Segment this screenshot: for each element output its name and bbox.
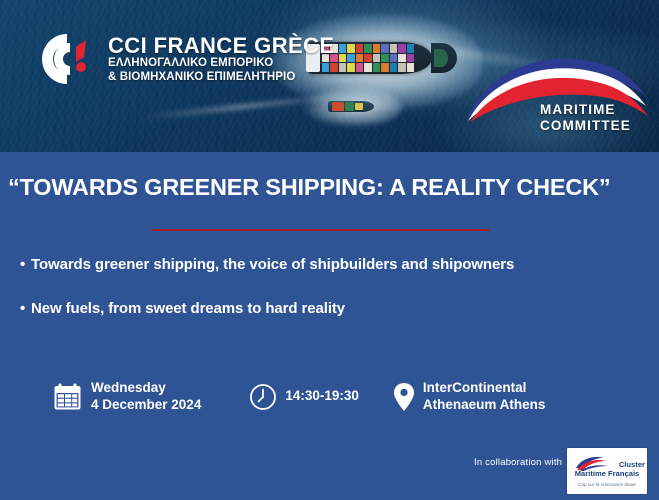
cargo-container [390, 63, 397, 72]
partner-name-line1: Cluster [619, 460, 645, 469]
cci-logo-mark [36, 30, 98, 88]
cargo-container [373, 63, 380, 72]
maritime-committee-line1: MARITIME [540, 102, 631, 118]
event-date-text: Wednesday 4 December 2024 [91, 380, 201, 414]
cargo-container [356, 63, 363, 72]
cargo-container [339, 63, 346, 72]
cargo-container [381, 44, 388, 53]
poster-body: “TOWARDS GREENER SHIPPING: A REALITY CHE… [0, 152, 659, 500]
event-time: 14:30-19:30 [249, 383, 359, 411]
cargo-container [390, 54, 397, 63]
cci-logo-text: CCI FRANCE GRÈCE ΕΛΛΗΝΟΓΑΛΛΙΚΟ ΕΜΠΟΡΙΚΟ … [108, 34, 334, 85]
event-details: Wednesday 4 December 2024 14:30-19:30 [53, 380, 545, 414]
cargo-container [347, 54, 354, 63]
cargo-container [381, 63, 388, 72]
list-item-label: Towards greener shipping, the voice of s… [31, 256, 514, 273]
list-item-label: New fuels, from sweet dreams to hard rea… [31, 300, 345, 317]
event-date-line2: 4 December 2024 [91, 397, 201, 414]
partner-tagline: Cap sur la croissance bleue [567, 482, 647, 487]
cargo-container [407, 63, 414, 72]
maritime-committee-line2: COMMITTEE [540, 118, 631, 134]
cargo-container [356, 44, 363, 53]
cargo-container [407, 54, 414, 63]
event-date-line1: Wednesday [91, 380, 201, 397]
cargo-container [398, 63, 405, 72]
collaboration-label: In collaboration with [474, 457, 562, 468]
location-pin-icon [393, 382, 415, 412]
header-photo-band: CCI FRANCE GRÈCE ΕΛΛΗΝΟΓΑΛΛΙΚΟ ΕΜΠΟΡΙΚΟ … [0, 0, 659, 152]
maritime-committee-text: MARITIME COMMITTEE [540, 102, 631, 135]
event-venue-line2: Athenaeum Athens [423, 397, 546, 414]
cargo-container [373, 54, 380, 63]
clock-icon [249, 383, 277, 411]
bullet-marker: • [20, 300, 31, 317]
cargo-container [381, 54, 388, 63]
cargo-container [398, 54, 405, 63]
list-item: • Towards greener shipping, the voice of… [20, 256, 650, 273]
event-time-text: 14:30-19:30 [285, 388, 359, 405]
cci-france-grece-logo: CCI FRANCE GRÈCE ΕΛΛΗΝΟΓΑΛΛΙΚΟ ΕΜΠΟΡΙΚΟ … [36, 28, 304, 90]
event-venue-text: InterContinental Athenaeum Athens [423, 380, 546, 414]
topics-list: • Towards greener shipping, the voice of… [20, 256, 650, 317]
cargo-containers [322, 44, 414, 72]
maritime-committee-logo: MARITIME COMMITTEE [462, 52, 652, 148]
cargo-container [407, 44, 414, 53]
tug-deck-block [332, 102, 344, 111]
tug-deck-block [355, 103, 363, 110]
cargo-container [364, 44, 371, 53]
cargo-container [339, 54, 346, 63]
partner-name: Cluster Maritime Français [569, 460, 645, 479]
event-poster: CCI FRANCE GRÈCE ΕΛΛΗΝΟΓΑΛΛΙΚΟ ΕΜΠΟΡΙΚΟ … [0, 0, 659, 500]
cargo-container [356, 54, 363, 63]
cargo-container [398, 44, 405, 53]
partner-logo-card: Cluster Maritime Français Cap sur la cro… [567, 448, 647, 494]
cci-logo-subtitle-line1: ΕΛΛΗΝΟΓΑΛΛΙΚΟ ΕΜΠΟΡΙΚΟ [108, 57, 334, 71]
event-date: Wednesday 4 December 2024 [53, 380, 201, 414]
cci-logo-title: CCI FRANCE GRÈCE [108, 34, 334, 58]
bullet-marker: • [20, 256, 31, 273]
cargo-container [347, 44, 354, 53]
title-divider [152, 229, 490, 231]
page-title: “TOWARDS GREENER SHIPPING: A REALITY CHE… [8, 174, 651, 201]
event-venue-line1: InterContinental [423, 380, 546, 397]
cargo-container [364, 63, 371, 72]
ship-bow-deck [434, 49, 448, 67]
event-venue: InterContinental Athenaeum Athens [393, 380, 546, 414]
cci-logo-subtitle-line2: & ΒΙΟΜΗΧΑΝΙΚΟ ΕΠΙΜΕΛΗΤΗΡΙΟ [108, 71, 334, 85]
tug-deck-block [345, 102, 354, 111]
tugboat-image [318, 92, 382, 120]
cargo-container [339, 44, 346, 53]
list-item: • New fuels, from sweet dreams to hard r… [20, 300, 650, 317]
cargo-container [347, 63, 354, 72]
cargo-container [390, 44, 397, 53]
partner-name-line2: Maritime Français [569, 469, 645, 478]
cargo-container [373, 44, 380, 53]
cargo-container [364, 54, 371, 63]
calendar-icon [53, 382, 82, 411]
